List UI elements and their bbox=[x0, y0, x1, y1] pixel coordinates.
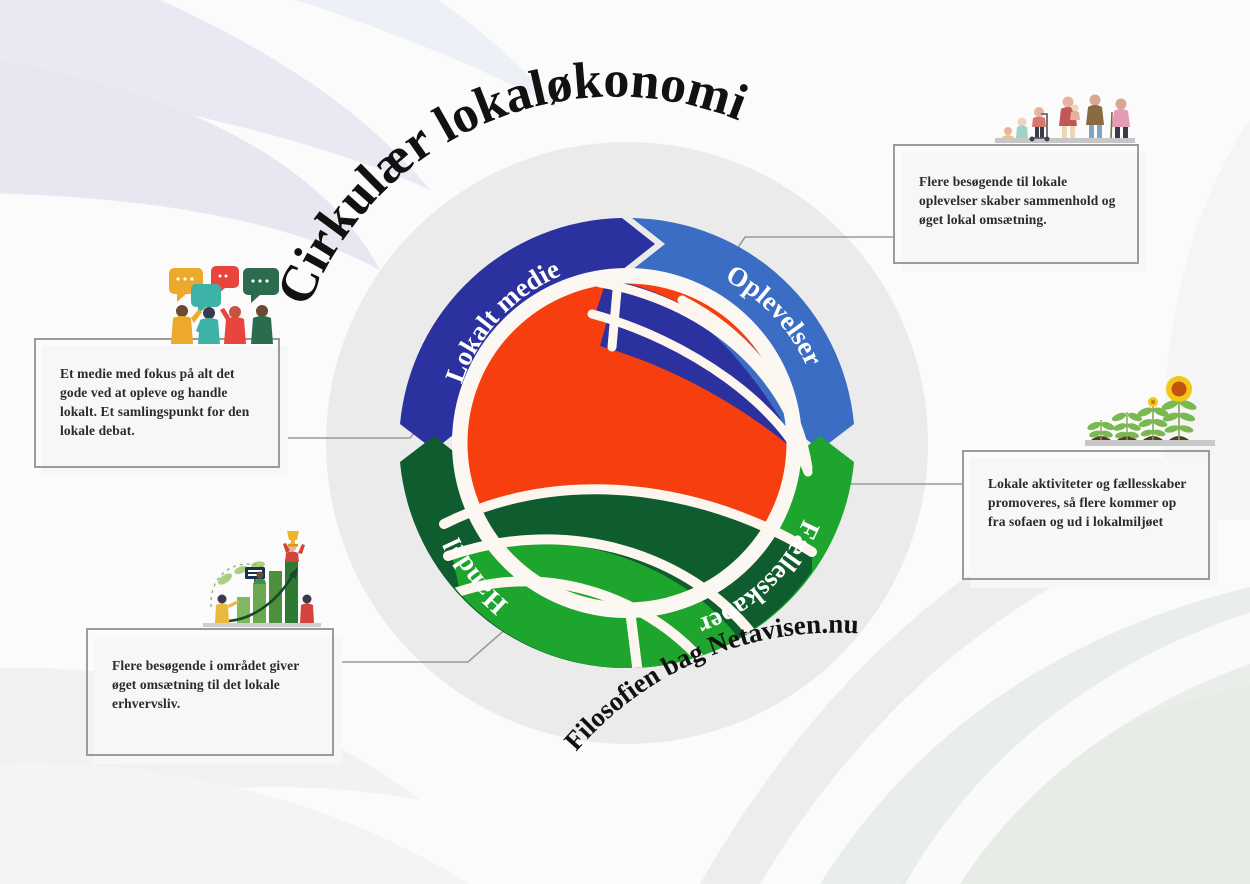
callout-faellesskaber[interactable]: Lokale aktiviteter og fællesskaber promo… bbox=[962, 450, 1210, 580]
callout-lokalt-medie[interactable]: Et medie med fokus på alt det gode ved a… bbox=[34, 338, 280, 468]
growing-plants-sunflower-illustration bbox=[1085, 372, 1215, 450]
callout-handel-text: Flere besøgende i området giver øget oms… bbox=[86, 628, 334, 713]
growth-bar-chart-illustration bbox=[203, 525, 321, 629]
trophy-icon bbox=[287, 531, 299, 547]
callout-lokalt-medie-text: Et medie med fokus på alt det gode ved a… bbox=[34, 338, 280, 441]
people-speech-bubbles-illustration bbox=[165, 266, 283, 344]
callout-handel[interactable]: Flere besøgende i området giver øget oms… bbox=[86, 628, 334, 756]
sunflower-head bbox=[1166, 376, 1192, 402]
callout-oplevelser-text: Flere besøgende til lokale oplevelser sk… bbox=[893, 144, 1139, 229]
callout-oplevelser[interactable]: Flere besøgende til lokale oplevelser sk… bbox=[893, 144, 1139, 264]
infographic-canvas: Lokalt medie Oplevelser Fællesskaber Han… bbox=[0, 0, 1250, 884]
callout-faellesskaber-text: Lokale aktiviteter og fællesskaber promo… bbox=[962, 450, 1210, 531]
people-ages-row-illustration bbox=[995, 82, 1135, 146]
small-flower-bud bbox=[1148, 397, 1158, 407]
sep-t4 bbox=[612, 279, 618, 347]
